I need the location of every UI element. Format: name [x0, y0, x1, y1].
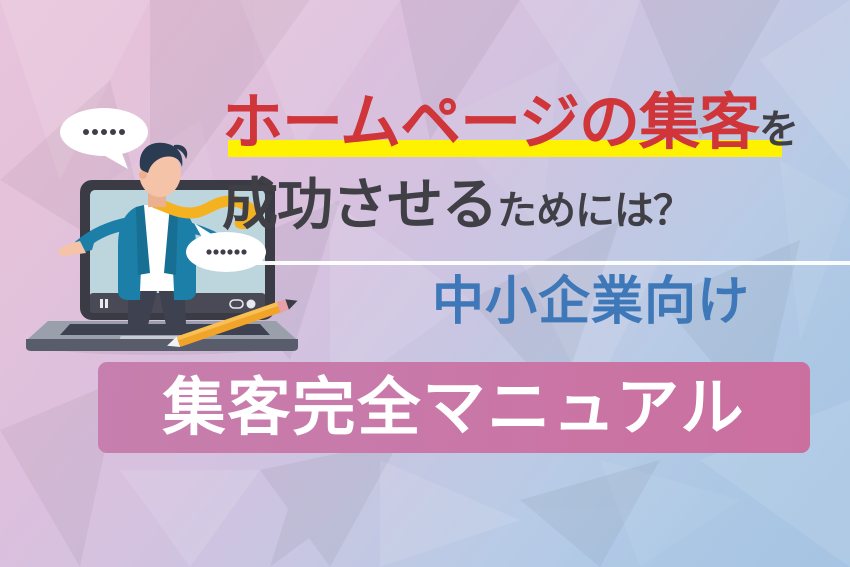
title-banner: 集客完全マニュアル [98, 362, 810, 453]
speech-bubble-top [60, 108, 148, 169]
laptop-base [26, 321, 298, 351]
headline-line2-small: ためには？ [497, 188, 692, 234]
headline-emphasis: ホームページの集客 [222, 87, 759, 158]
headline-particle: を [759, 107, 799, 153]
subtitle-target-audience: 中小企業向け [432, 276, 750, 328]
promo-banner-canvas: ホームページの集客を 成功させるためには？ 中小企業向け 集客完全マニュアル [0, 0, 850, 567]
headline-line2-large: 成功させる [222, 173, 497, 238]
section-divider [226, 261, 850, 265]
headline-block: ホームページの集客を 成功させるためには？ [222, 92, 842, 234]
headline-line-2: 成功させるためには？ [222, 178, 842, 234]
headline-line-1: ホームページの集客を [222, 92, 842, 164]
title-banner-text: 集客完全マニュアル [162, 376, 745, 439]
